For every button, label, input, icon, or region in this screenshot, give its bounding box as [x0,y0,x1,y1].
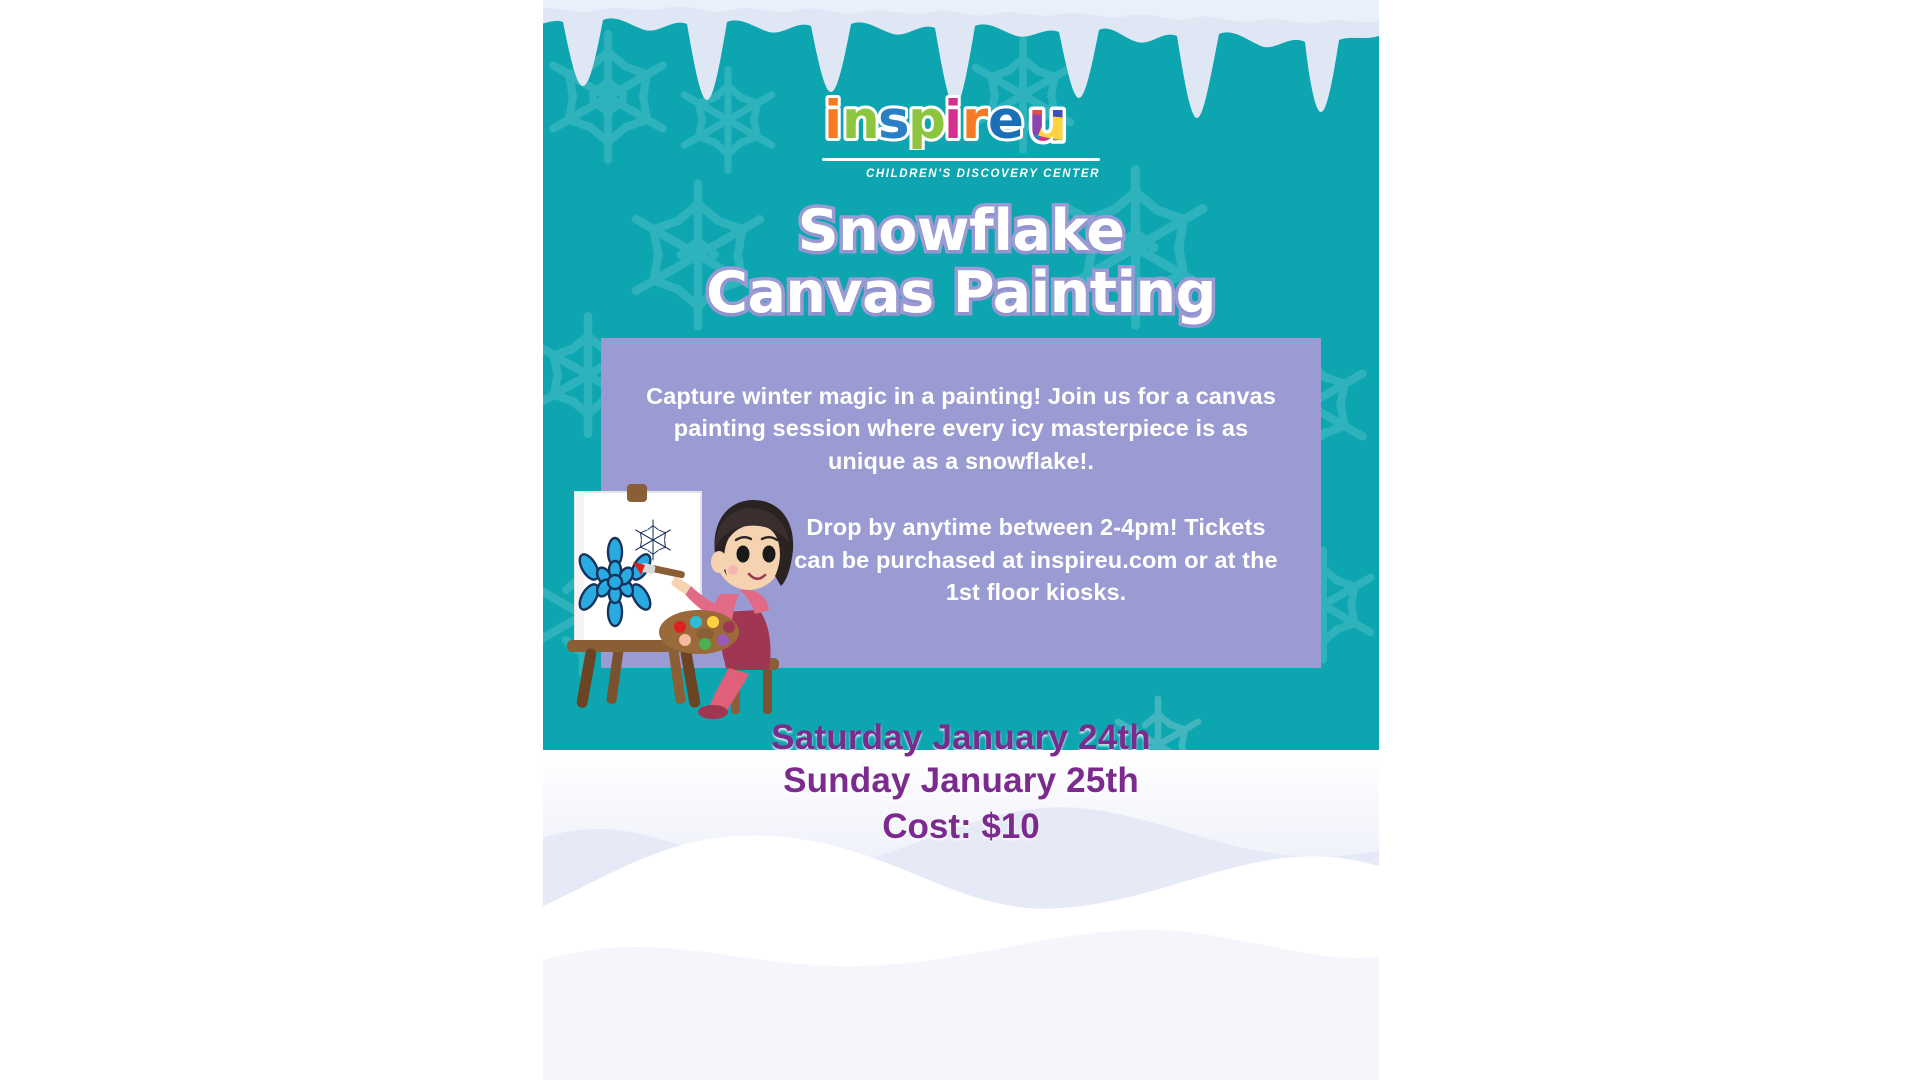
logo-wordmark: i n s p i r e u u [822,88,1100,150]
event-date-2: Sunday January 25th [543,759,1379,802]
svg-text:r: r [962,90,988,150]
title-line-2: Canvas Painting [543,262,1379,324]
svg-text:n: n [842,90,880,150]
event-schedule: Saturday January 24th Sunday January 25t… [543,716,1379,848]
logo-divider [822,158,1100,161]
event-date-1: Saturday January 24th [543,716,1379,759]
page-title: Snowflake Canvas Painting [543,200,1379,324]
title-line-1: Snowflake [543,200,1379,262]
svg-text:s: s [878,90,910,150]
svg-text:p: p [908,90,946,150]
girl-painting-illustration [553,482,803,722]
event-cost: Cost: $10 [543,805,1379,848]
svg-text:i: i [944,90,962,150]
screenshot-canvas: i n s p i r e u u [0,0,1920,1080]
event-poster: i n s p i r e u u [543,0,1379,1080]
description-paragraph-1: Capture winter magic in a painting! Join… [639,380,1283,477]
brand-logo: i n s p i r e u u [543,88,1379,180]
svg-text:i: i [824,90,842,150]
logo-tagline: CHILDREN'S DISCOVERY CENTER [822,168,1100,180]
svg-text:e: e [988,90,1024,150]
